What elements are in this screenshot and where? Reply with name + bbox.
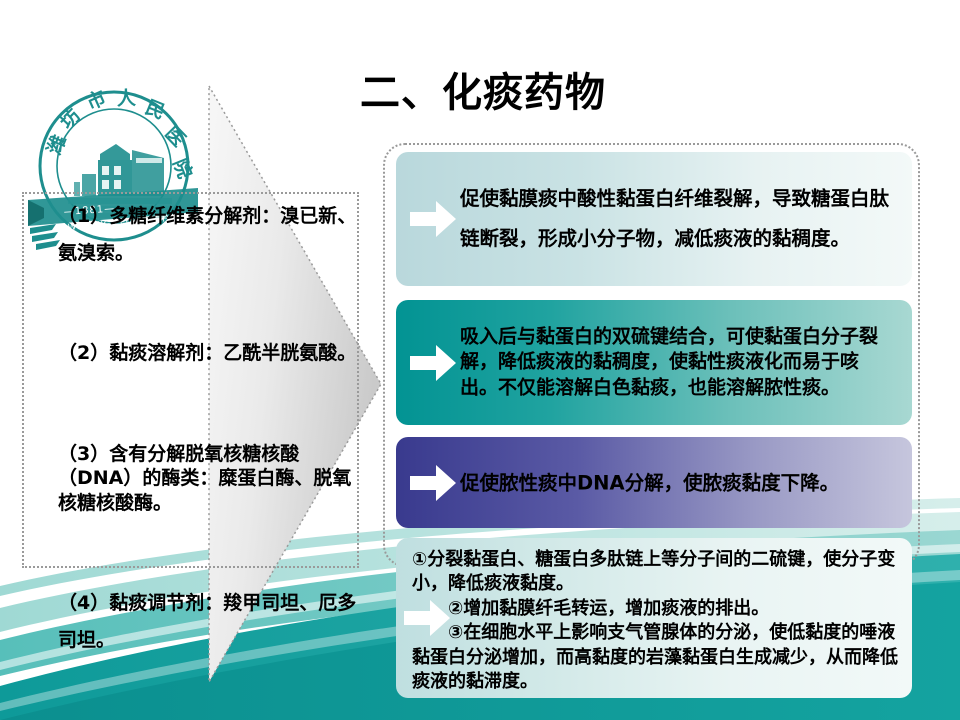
effect-card-2-text: 吸入后与黏蛋白的双硫键结合，可使黏蛋白分子裂解，降低痰液的黏稠度，使黏性痰液化而…: [460, 324, 896, 401]
left-list-item-2: （2）黏痰溶解剂：乙酰半胱氨酸。: [58, 335, 358, 372]
right-arrow-icon: [410, 463, 456, 503]
slide-title: 二、化痰药物: [360, 70, 780, 116]
effect-card-1[interactable]: 促使黏膜痰中酸性黏蛋白纤维裂解，导致糖蛋白肽链断裂，形成小分子物，减低痰液的黏稠…: [396, 152, 912, 286]
effect-card-2[interactable]: 吸入后与黏蛋白的双硫键结合，可使黏蛋白分子裂解，降低痰液的黏稠度，使黏性痰液化而…: [396, 300, 912, 425]
effect-card-4-text: ①分裂黏蛋白、糖蛋白多肽链上等分子间的二硫键，使分子变小，降低痰液黏度。 ②增加…: [412, 548, 902, 695]
effect-card-3[interactable]: 促使脓性痰中DNA分解，使脓痰黏度下降。: [396, 437, 912, 528]
svg-text:人: 人: [116, 87, 137, 110]
right-arrow-icon: [410, 343, 456, 383]
right-arrow-icon: [410, 199, 456, 239]
left-list-item-3: （3）含有分解脱氧核糖核酸（DNA）的酶类：糜蛋白酶、脱氧核糖核酸酶。: [58, 442, 358, 515]
svg-text:坊: 坊: [55, 104, 85, 134]
left-list-item-1: （1）多糖纤维素分解剂：溴已新、氨溴索。: [58, 198, 358, 272]
effect-card-4-line-3: ③在细胞水平上影响支气管腺体的分泌，使低黏度的唾液黏蛋白分泌增加，而高黏度的岩藻…: [412, 621, 902, 694]
svg-text:院: 院: [168, 155, 196, 181]
slide-canvas: 潍 坊 市 人 民 医 院: [0, 0, 960, 720]
effect-card-4-line-2: ②增加黏膜纤毛转运，增加痰液的排出。: [412, 597, 902, 621]
effect-card-4[interactable]: ①分裂黏蛋白、糖蛋白多肽链上等分子间的二硫键，使分子变小，降低痰液黏度。 ②增加…: [396, 538, 912, 698]
left-list-item-4: （4）黏痰调节剂：羧甲司坦、厄多司坦。: [58, 585, 358, 659]
effect-card-4-line-1: ①分裂黏蛋白、糖蛋白多肽链上等分子间的二硫键，使分子变小，降低痰液黏度。: [412, 549, 895, 594]
effect-card-1-text: 促使黏膜痰中酸性黏蛋白纤维裂解，导致糖蛋白肽链断裂，形成小分子物，减低痰液的黏稠…: [460, 179, 896, 259]
effect-card-3-text: 促使脓性痰中DNA分解，使脓痰黏度下降。: [460, 469, 896, 496]
